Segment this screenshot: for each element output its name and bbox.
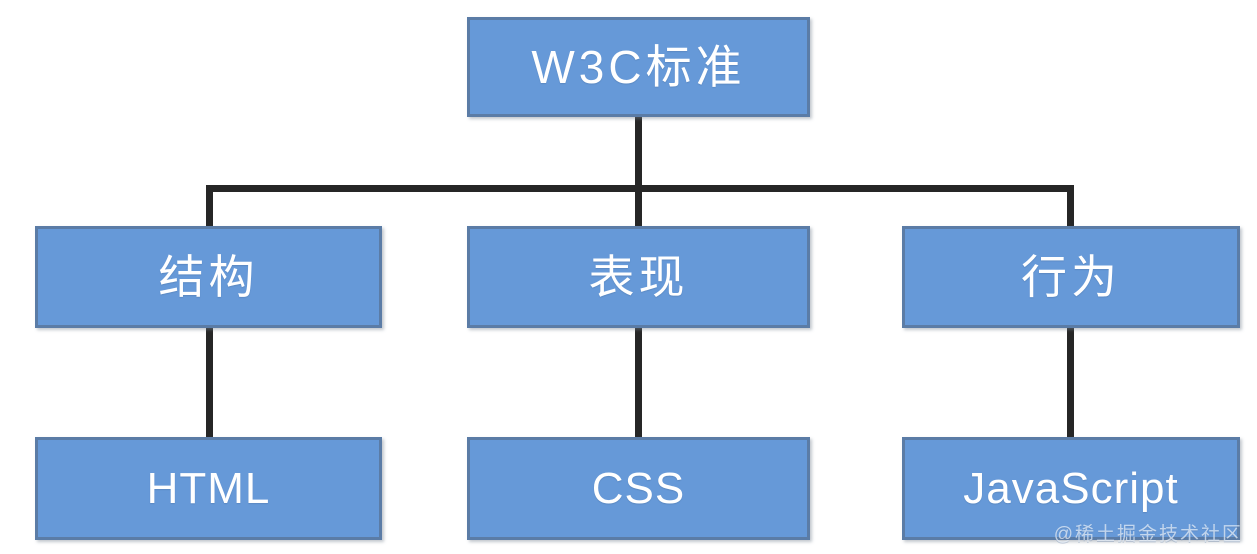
- node-html[interactable]: HTML: [35, 437, 382, 540]
- node-structure[interactable]: 结构: [35, 226, 382, 328]
- node-structure-label: 结构: [159, 254, 259, 300]
- connector-behavior-to-javascript: [1067, 325, 1074, 440]
- connector-bus-to-behavior: [1067, 185, 1074, 229]
- w3c-standards-diagram: W3C标准 结构 表现 行为 HTML CSS JavaScript @稀土掘金…: [0, 0, 1257, 554]
- node-presentation-label: 表现: [589, 254, 689, 300]
- node-html-label: HTML: [147, 467, 271, 511]
- node-presentation[interactable]: 表现: [467, 226, 810, 328]
- node-css[interactable]: CSS: [467, 437, 810, 540]
- node-w3c-standard-label: W3C标准: [531, 44, 745, 90]
- node-behavior-label: 行为: [1021, 254, 1121, 300]
- connector-bus-to-structure: [206, 185, 213, 229]
- node-javascript-label: JavaScript: [963, 467, 1178, 511]
- connector-presentation-to-css: [635, 325, 642, 440]
- watermark: @稀土掘金技术社区: [1054, 519, 1243, 546]
- connector-root-to-bus: [635, 114, 642, 229]
- node-css-label: CSS: [592, 467, 685, 511]
- node-behavior[interactable]: 行为: [902, 226, 1240, 328]
- connector-bus-horizontal: [206, 185, 1074, 192]
- connector-structure-to-html: [206, 325, 213, 440]
- node-w3c-standard[interactable]: W3C标准: [467, 17, 810, 117]
